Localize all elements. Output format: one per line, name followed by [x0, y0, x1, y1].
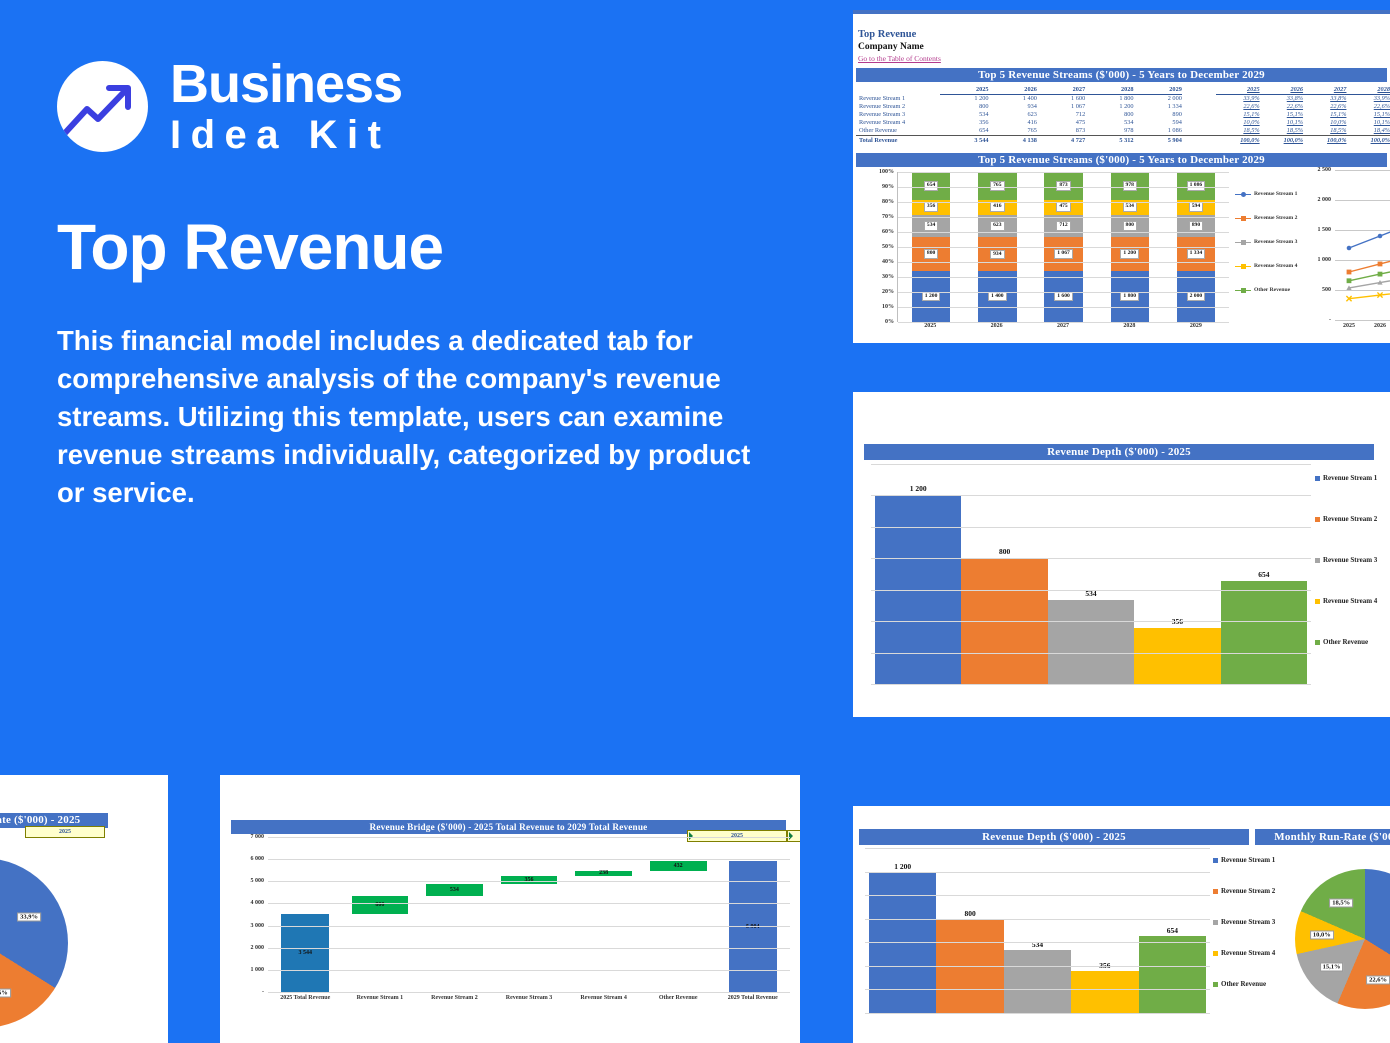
stacked-segment: 978 [1111, 172, 1149, 200]
stacked-segment: 890 [1177, 215, 1215, 238]
gridline [898, 172, 1229, 173]
stacked-chart-plot: 6543565348001 2007654166239341 400873475… [897, 172, 1229, 322]
monthly-run-rate-panel-left: Run-Rate ($'000) - 2025 2025 33,9%22,6%1… [0, 775, 168, 1043]
stacked-chart-x-axis: 20252026202720282029 [897, 323, 1229, 329]
trend-line-chart: -5001 0001 5002 0002 5002025202620272028… [1305, 170, 1390, 343]
data-label: 890 [1189, 221, 1203, 231]
revenue-depth-legend-bottom: Revenue Stream 1Revenue Stream 2Revenue … [1213, 856, 1275, 1011]
legend-marker-icon [1235, 263, 1251, 270]
gridline [898, 187, 1229, 188]
y-tick-label: 7 000 [251, 834, 265, 840]
table-of-contents-link[interactable]: Go to the Table of Contents [858, 54, 941, 63]
gridline [871, 527, 1311, 528]
bar-column: 654 [1221, 464, 1307, 684]
y-tick-label: 1 000 [1305, 257, 1331, 263]
legend-label: Revenue Stream 2 [1323, 515, 1377, 523]
gridline [268, 948, 790, 949]
y-tick-label: 50% [882, 244, 894, 250]
bridge-plot: 3 5448005343562384325 904 [268, 837, 790, 992]
col-year-2028: 2028 [1085, 86, 1133, 95]
worksheet-panel-top: Top Revenue Company Name Go to the Table… [853, 10, 1390, 343]
table-header-row: 2025 2026 2027 2028 2029 2025 2026 2027 … [856, 86, 1390, 95]
x-tick-label: 2029 Total Revenue [715, 995, 790, 1001]
revenue-depth-chart: 1 200800534356654 [871, 464, 1311, 684]
bridge-y-axis: -1 0002 0003 0004 0005 0006 0007 000 [224, 837, 266, 992]
x-tick-label: 2025 [1343, 323, 1355, 329]
legend-label: Revenue Stream 3 [1221, 918, 1275, 926]
legend-label: Revenue Stream 2 [1254, 215, 1297, 221]
gridline [865, 1013, 1210, 1014]
col-year-2025: 2025 [940, 86, 988, 95]
data-label: 654 [1139, 926, 1206, 935]
y-tick-label: 1 000 [251, 967, 265, 973]
legend-swatch [1315, 517, 1320, 522]
data-label: 1 086 [1187, 181, 1206, 191]
pie-slice-label: 10,0% [1310, 930, 1334, 939]
legend-label: Revenue Stream 4 [1323, 597, 1377, 605]
bar-column: 800 [936, 848, 1003, 1013]
gridline [268, 903, 790, 904]
gridline [865, 895, 1210, 896]
data-label: 978 [1123, 181, 1137, 191]
gridline [268, 837, 790, 838]
gridline [1335, 320, 1390, 321]
data-label: 475 [1056, 202, 1070, 212]
waterfall-column: 432 [641, 837, 716, 992]
legend-swatch [1213, 920, 1218, 925]
x-tick-label: 2029 [1163, 323, 1229, 329]
y-tick-label: 0% [885, 319, 894, 325]
gridline [871, 684, 1311, 685]
gridline [898, 277, 1229, 278]
x-tick-label: 2025 Total Revenue [268, 995, 343, 1001]
x-tick-label: 2025 [897, 323, 963, 329]
legend-label: Revenue Stream 3 [1254, 239, 1297, 245]
table-row: Revenue Stream 2 800 934 1 067 1 200 1 3… [856, 103, 1390, 111]
bottom-right-panel: Revenue Depth ($'000) - 2025 1 200800534… [853, 806, 1390, 1043]
gridline [865, 872, 1210, 873]
waterfall-column: 5 904 [715, 837, 790, 992]
legend-item: Revenue Stream 1 [1235, 182, 1315, 206]
legend-swatch [1315, 640, 1320, 645]
line-chart-plot [1335, 170, 1390, 320]
gridline [898, 232, 1229, 233]
panel-top-rule [853, 10, 1390, 14]
legend-marker-icon [1235, 287, 1251, 294]
y-tick-label: 1 500 [1305, 227, 1331, 233]
revenue-depth-title: Revenue Depth ($'000) - 2025 [864, 444, 1374, 460]
y-tick-label: 90% [882, 184, 894, 190]
pie-slice-label: 18,5% [1329, 898, 1353, 907]
legend-item: Revenue Stream 2 [1235, 206, 1315, 230]
data-label: 800 [924, 249, 938, 259]
data-label: 416 [990, 202, 1004, 212]
y-tick-label: 3 000 [251, 923, 265, 929]
data-label: 1 067 [1054, 249, 1073, 259]
gridline [898, 292, 1229, 293]
revenue-depth-panel-mid: Revenue Depth ($'000) - 2025 1 200800534… [853, 392, 1390, 717]
gridline [898, 262, 1229, 263]
bar [1004, 950, 1071, 1013]
stacked-segment: 2 000 [1177, 271, 1215, 322]
col-pct-2025: 2025 [1216, 86, 1259, 95]
stacked-segment: 1 334 [1177, 237, 1215, 271]
data-label: 2 000 [1187, 292, 1206, 302]
pie-slice-label: 22,6% [1366, 976, 1390, 985]
stacked-segment: 1 067 [1044, 237, 1082, 271]
data-label: 238 [599, 870, 608, 876]
data-label: 1 200 [922, 292, 941, 302]
waterfall-bar: 238 [575, 871, 632, 876]
legend-item: Revenue Stream 4 [1315, 597, 1377, 605]
gridline [268, 859, 790, 860]
y-tick-label: 30% [882, 274, 894, 280]
legend-item: Revenue Stream 3 [1315, 556, 1377, 564]
data-label: 654 [924, 181, 938, 191]
legend-marker-icon [1235, 215, 1251, 222]
data-label: 356 [924, 202, 938, 212]
legend-label: Other Revenue [1254, 287, 1290, 293]
legend-item: Other Revenue [1315, 638, 1377, 646]
col-pct-2026: 2026 [1260, 86, 1303, 95]
data-label: 534 [450, 887, 459, 893]
stacked-segment: 1 200 [912, 271, 950, 322]
waterfall-bar: 432 [650, 861, 707, 871]
data-label: 1 200 [869, 862, 936, 871]
y-tick-label: 2 000 [1305, 197, 1331, 203]
legend-label: Revenue Stream 4 [1221, 949, 1275, 957]
legend-label: Revenue Stream 3 [1323, 556, 1377, 564]
waterfall-bar: 356 [501, 876, 558, 884]
stacked-segment: 873 [1044, 172, 1082, 200]
bar [1071, 971, 1138, 1013]
section-header-charts: Top 5 Revenue Streams ($'000) - 5 Years … [856, 153, 1387, 167]
line-chart-legend: Revenue Stream 1Revenue Stream 2Revenue … [1235, 182, 1315, 302]
x-tick-label: Revenue Stream 3 [492, 995, 567, 1001]
gridline [268, 881, 790, 882]
y-tick-label: 10% [882, 304, 894, 310]
gridline [898, 202, 1229, 203]
brand-logo: Business Idea Kit [57, 57, 402, 155]
y-tick-label: 80% [882, 199, 894, 205]
stacked-segment: 1 086 [1177, 172, 1215, 200]
legend-item: Revenue Stream 4 [1213, 949, 1275, 957]
growth-arrow-icon [57, 61, 148, 152]
gridline [268, 992, 790, 993]
stacked-segment: 534 [912, 215, 950, 238]
data-label: 1 200 [1120, 249, 1139, 259]
data-label: 1 334 [1187, 249, 1206, 259]
data-label: 594 [1189, 202, 1203, 212]
legend-swatch [1213, 982, 1218, 987]
revenue-depth-title-bottom: Revenue Depth ($'000) - 2025 [859, 829, 1249, 845]
data-label: 534 [924, 221, 938, 231]
legend-swatch [1315, 599, 1320, 604]
col-year-2027: 2027 [1037, 86, 1085, 95]
bar-column: 1 200 [875, 464, 961, 684]
data-label: 3 544 [299, 950, 313, 956]
data-label: 1 800 [1120, 292, 1139, 302]
y-tick-label: 70% [882, 214, 894, 220]
section-header-table: Top 5 Revenue Streams ($'000) - 5 Years … [856, 68, 1387, 82]
waterfall-bar: 800 [352, 896, 409, 914]
stacked-segment: 934 [978, 237, 1016, 271]
legend-label: Other Revenue [1323, 638, 1368, 646]
legend-label: Revenue Stream 4 [1254, 263, 1297, 269]
legend-item: Revenue Stream 1 [1315, 474, 1377, 482]
waterfall-column: 800 [343, 837, 418, 992]
data-label: 654 [1221, 570, 1307, 579]
y-tick-label: - [1305, 317, 1331, 323]
data-label: 1 600 [1054, 292, 1073, 302]
y-tick-label: 20% [882, 289, 894, 295]
waterfall-column: 238 [566, 837, 641, 992]
table-total-row: Total Revenue 3 544 4 138 4 727 5 312 5 … [856, 136, 1390, 146]
data-label: 800 [936, 909, 1003, 918]
bar [1221, 581, 1307, 684]
stacked-segment: 654 [912, 172, 950, 200]
col-year-2026: 2026 [989, 86, 1037, 95]
gridline [871, 495, 1311, 496]
stacked-segment: 1 600 [1044, 271, 1082, 322]
stacked-segment: 800 [912, 237, 950, 271]
x-tick-label: Other Revenue [641, 995, 716, 1001]
legend-item: Revenue Stream 2 [1315, 515, 1377, 523]
bar [1048, 600, 1134, 684]
y-tick-label: 2 500 [1305, 167, 1331, 173]
gridline [871, 590, 1311, 591]
x-tick-label: 2026 [1374, 323, 1386, 329]
bar [1134, 628, 1220, 684]
gridline [871, 558, 1311, 559]
gridline [898, 217, 1229, 218]
promo-panel: Business Idea Kit Top Revenue This finan… [0, 0, 840, 780]
data-label: 1 200 [875, 484, 961, 493]
y-tick-label: 100% [879, 169, 894, 175]
gridline [871, 621, 1311, 622]
x-tick-label: 2027 [1030, 323, 1096, 329]
revenue-bridge-panel: Revenue Bridge ($'000) - 2025 Total Reve… [220, 775, 800, 1043]
data-label: 934 [990, 250, 1004, 260]
stacked-segment: 1 800 [1111, 271, 1149, 322]
table-row: Revenue Stream 3 534 623 712 800 890 15,… [856, 111, 1390, 119]
legend-label: Revenue Stream 1 [1254, 191, 1297, 197]
bar-column: 356 [1134, 464, 1220, 684]
x-tick-label: Revenue Stream 2 [417, 995, 492, 1001]
col-pct-2027: 2027 [1303, 86, 1346, 95]
legend-swatch [1213, 951, 1218, 956]
y-tick-label: 500 [1305, 287, 1331, 293]
worksheet-title: Top Revenue [858, 29, 916, 40]
page-title: Top Revenue [57, 210, 443, 284]
bridge-x-axis: 2025 Total RevenueRevenue Stream 1Revenu… [268, 995, 790, 1001]
stacked-segment: 712 [1044, 215, 1082, 238]
y-tick-label: - [262, 989, 264, 995]
worksheet-company: Company Name [858, 42, 924, 52]
bar-column: 534 [1004, 848, 1071, 1013]
pie-slice-label: 22,6% [0, 989, 11, 998]
data-label: 534 [1123, 202, 1137, 212]
bar-column: 654 [1139, 848, 1206, 1013]
stacked-chart-y-axis: 0%10%20%30%40%50%60%70%80%90%100% [859, 172, 897, 322]
pie-slice-label: 15,1% [1320, 962, 1344, 971]
table-row: Revenue Stream 1 1 200 1 400 1 600 1 800… [856, 95, 1390, 104]
legend-label: Revenue Stream 1 [1323, 474, 1377, 482]
gridline [865, 942, 1210, 943]
x-tick-label: 2028 [1096, 323, 1162, 329]
promo-description: This financial model includes a dedicate… [57, 322, 757, 512]
legend-marker-icon [1235, 239, 1251, 246]
legend-label: Revenue Stream 2 [1221, 887, 1275, 895]
gridline [268, 926, 790, 927]
legend-item: Revenue Stream 2 [1213, 887, 1275, 895]
stacked-segment: 623 [978, 215, 1016, 238]
waterfall-column: 534 [417, 837, 492, 992]
legend-item: Revenue Stream 3 [1235, 230, 1315, 254]
brand-name-line1: Business [170, 57, 402, 111]
legend-item: Other Revenue [1235, 278, 1315, 302]
table-row: Revenue Stream 4 356 416 475 534 594 10,… [856, 119, 1390, 127]
y-tick-label: 40% [882, 259, 894, 265]
year-selector-left[interactable]: 2025 [25, 826, 105, 838]
revenue-depth-chart-bottom: 1 200800534356654 [865, 848, 1210, 1013]
gridline [865, 966, 1210, 967]
data-label: 432 [674, 863, 683, 869]
legend-item: Revenue Stream 1 [1213, 856, 1275, 864]
stacked-segment: 800 [1111, 215, 1149, 238]
stacked-segment: 1 400 [978, 271, 1016, 322]
pie-slice-label: 33,9% [17, 913, 41, 922]
y-tick-label: 60% [882, 229, 894, 235]
y-tick-label: 6 000 [251, 856, 265, 862]
data-label: 873 [1056, 181, 1070, 191]
stacked-segment: 1 200 [1111, 237, 1149, 271]
gridline [268, 970, 790, 971]
bar [1139, 936, 1206, 1013]
gridline [898, 307, 1229, 308]
y-tick-label: 4 000 [251, 900, 265, 906]
legend-label: Revenue Stream 1 [1221, 856, 1275, 864]
col-pct-2028: 2028 [1346, 86, 1390, 95]
line-series-group [1335, 170, 1390, 320]
data-label: 1 400 [988, 292, 1007, 302]
legend-swatch [1315, 558, 1320, 563]
x-tick-label: Revenue Stream 1 [343, 995, 418, 1001]
data-label: 800 [1123, 221, 1137, 231]
data-label: 5 904 [746, 924, 760, 930]
bar-column: 1 200 [869, 848, 936, 1013]
gridline [865, 989, 1210, 990]
legend-marker-icon [1235, 191, 1251, 198]
table-row: Other Revenue 654 765 873 978 1 086 18,5… [856, 127, 1390, 136]
gridline [871, 464, 1311, 465]
revenue-table: 2025 2026 2027 2028 2029 2025 2026 2027 … [856, 86, 1390, 145]
col-year-2029: 2029 [1134, 86, 1182, 95]
data-label: 712 [1056, 221, 1070, 231]
brand-name-line2: Idea Kit [170, 115, 402, 155]
legend-swatch [1315, 476, 1320, 481]
legend-swatch [1213, 889, 1218, 894]
bar-column: 800 [961, 464, 1047, 684]
gridline [865, 848, 1210, 849]
data-label: 765 [990, 181, 1004, 191]
y-tick-label: 5 000 [251, 878, 265, 884]
gridline [865, 919, 1210, 920]
stacked-column-chart: 0%10%20%30%40%50%60%70%80%90%100% 654356… [859, 172, 1229, 343]
waterfall-column: 356 [492, 837, 567, 992]
gridline [871, 653, 1311, 654]
bar-column: 356 [1071, 848, 1138, 1013]
revenue-depth-legend: Revenue Stream 1Revenue Stream 2Revenue … [1315, 474, 1377, 679]
y-tick-label: 2 000 [251, 945, 265, 951]
monthly-run-rate-title-right: Monthly Run-Rate ($'000) - 2025 [1255, 829, 1390, 845]
monthly-run-rate-pie-left: 33,9%22,6%15,1%10,0%18,5% [0, 858, 68, 1028]
stacked-segment: 765 [978, 172, 1016, 200]
x-tick-label: Revenue Stream 4 [566, 995, 641, 1001]
gridline [898, 247, 1229, 248]
bar-column: 534 [1048, 464, 1134, 684]
legend-swatch [1213, 858, 1218, 863]
data-label: 623 [990, 221, 1004, 231]
legend-item: Revenue Stream 3 [1213, 918, 1275, 926]
monthly-run-rate-pie-right: 33,9%22,6%15,1%10,0%18,5% [1295, 869, 1390, 1009]
legend-label: Other Revenue [1221, 980, 1266, 988]
legend-item: Other Revenue [1213, 980, 1275, 988]
data-label: 800 [961, 547, 1047, 556]
waterfall-bar: 534 [426, 884, 483, 896]
legend-item: Revenue Stream 4 [1235, 254, 1315, 278]
waterfall-column: 3 544 [268, 837, 343, 992]
x-tick-label: 2026 [963, 323, 1029, 329]
